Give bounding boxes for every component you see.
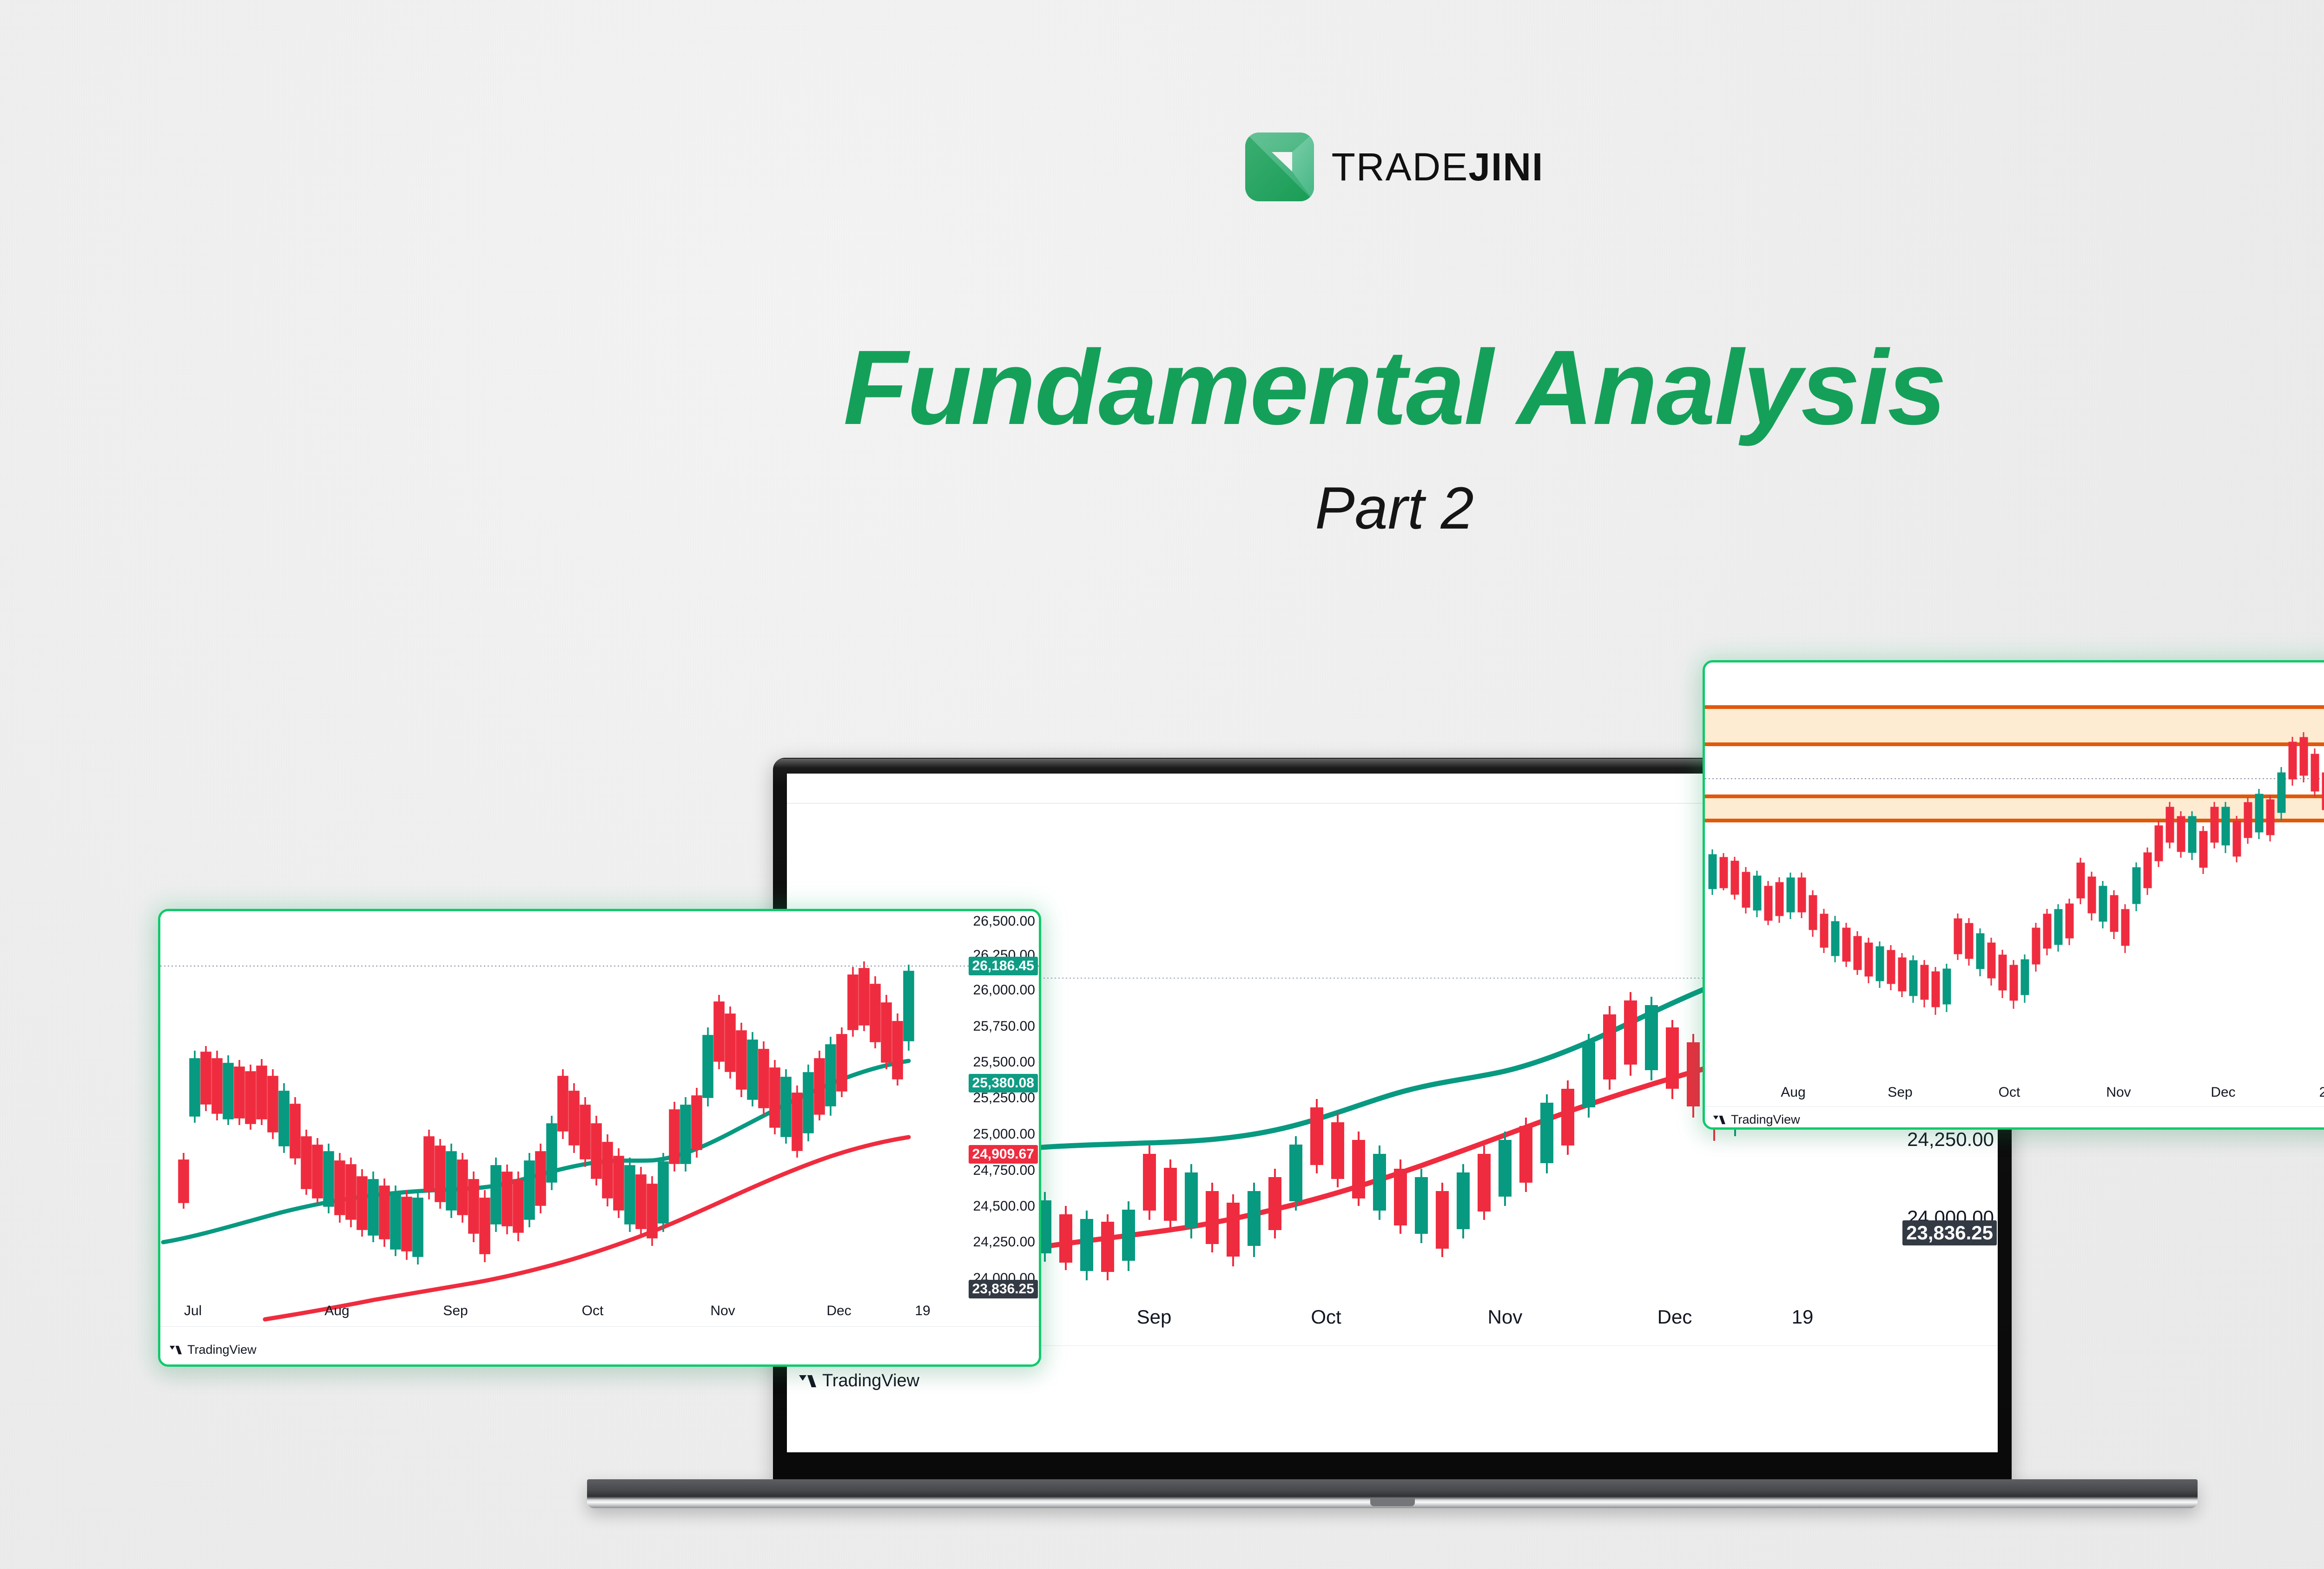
x-tick-label: Oct [1999,1085,2020,1100]
x-tick-label: Dec [1657,1306,1692,1328]
tradingview-watermark: TradingView [169,1343,257,1357]
tradingview-label: TradingView [822,1371,919,1391]
y-tick-label: 25,000.00 [973,1126,1035,1142]
x-tick-label: Oct [582,1303,604,1319]
y-tick-label: 24,750.00 [973,1163,1035,1178]
y-price-badge: 26,186.45 [969,957,1038,975]
x-tick-label: Aug [1781,1085,1805,1100]
tradingview-logo-icon [798,1373,819,1389]
y-price-badge: 23,836.25 [1902,1220,1997,1245]
x-tick-label: Sep [1888,1085,1912,1100]
x-tick-label: Jul [184,1303,202,1319]
left-chart-plot [160,911,1039,1364]
x-tick-label: 19 [1792,1306,1814,1328]
right-chart-plot [1705,662,2324,1127]
brand-logo: TRADEJINI [0,132,2324,201]
y-tick-label: 26,000.00 [973,982,1035,998]
resistance-zone [1705,707,2324,744]
y-tick-label: 25,500.00 [973,1054,1035,1070]
tradejini-logo-icon [1245,132,1314,201]
y-tick-label: 24,250.00 [973,1234,1035,1250]
x-tick-label: Nov [2106,1085,2131,1100]
right-chart-svg [1705,662,2324,1127]
x-tick-label: Oct [1311,1306,1341,1328]
x-tick-label: Aug [324,1303,349,1319]
y-price-badge: 24,909.67 [969,1145,1038,1164]
brand-name-bold: JINI [1468,145,1544,189]
tradingview-watermark: TradingView [1712,1112,1800,1127]
support-zone [1705,796,2324,821]
y-price-badge: 23,836.25 [969,1280,1038,1298]
tradingview-logo-icon [169,1344,184,1356]
x-tick-label: Dec [2211,1085,2235,1100]
x-tick-label: 19 [915,1303,930,1319]
y-price-badge: 25,380.08 [969,1074,1038,1092]
left-chart-y-axis[interactable]: 26,500.00 26,250.00 26,186.45 26,000.00 … [923,911,1039,1364]
right-floating-chart[interactable]: 26,800.00 26,400.00 26,186.45 26,000.00 … [1705,662,2324,1127]
laptop-latch [1370,1498,1415,1506]
page-subtitle: Part 2 [0,479,2324,538]
tradingview-watermark: TradingView [798,1371,919,1391]
y-tick-label: 25,750.00 [973,1019,1035,1034]
x-tick-label: Dec [826,1303,851,1319]
y-tick-label: 24,250.00 [1907,1128,1994,1151]
y-tick-label: 25,250.00 [973,1090,1035,1106]
x-tick-label: Sep [443,1303,468,1319]
right-chart-card[interactable]: 26,800.00 26,400.00 26,186.45 26,000.00 … [1703,660,2324,1130]
left-floating-chart[interactable]: 26,500.00 26,250.00 26,186.45 26,000.00 … [160,911,1039,1364]
brand-name-thin: TRADE [1332,145,1469,189]
tradingview-logo-icon [1712,1114,1727,1125]
x-tick-label: Nov [1488,1306,1523,1328]
page-title: Fundamental Analysis [0,335,2324,441]
brand-wordmark: TRADEJINI [1332,147,1544,186]
left-chart-svg [160,911,1039,1364]
tradingview-label: TradingView [187,1343,257,1357]
tradingview-label: TradingView [1731,1112,1800,1127]
x-tick-label: Nov [710,1303,735,1319]
y-tick-label: 26,500.00 [973,914,1035,929]
x-tick-label: Sep [1137,1306,1172,1328]
left-chart-card[interactable]: 26,500.00 26,250.00 26,186.45 26,000.00 … [158,909,1041,1367]
y-tick-label: 24,500.00 [973,1198,1035,1214]
x-tick-label: 2026 [2319,1085,2324,1100]
